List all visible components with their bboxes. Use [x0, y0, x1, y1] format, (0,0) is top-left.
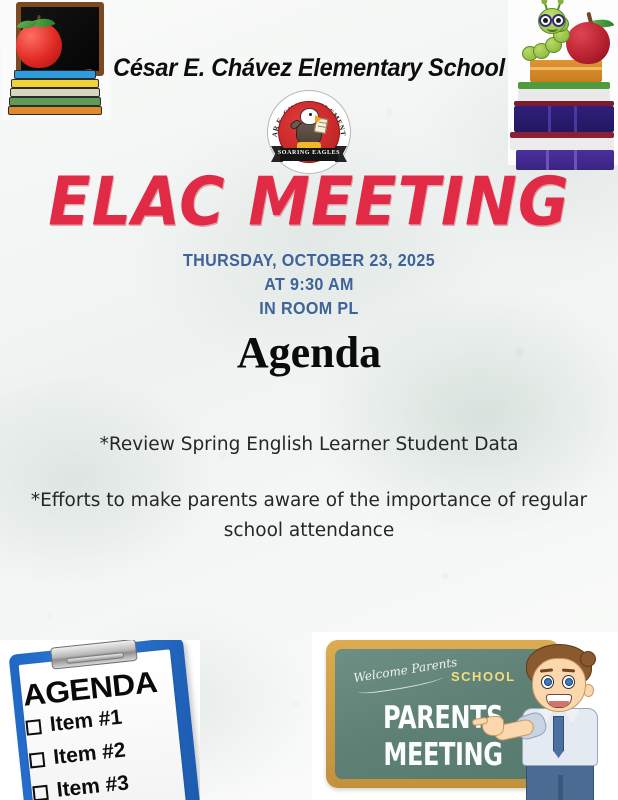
chalkboard-welcome-text: Welcome Parents — [353, 655, 459, 685]
agenda-list: *Review Spring English Learner Student D… — [28, 430, 590, 546]
meeting-location: IN ROOM PL — [25, 296, 594, 320]
checkbox-icon — [32, 784, 48, 800]
list-item-label: Item #2 — [52, 739, 126, 770]
necktie-icon — [553, 716, 564, 758]
meeting-date: THURSDAY, OCTOBER 23, 2025 — [25, 248, 594, 272]
meeting-details: THURSDAY, OCTOBER 23, 2025 AT 9:30 AM IN… — [25, 248, 594, 320]
logo-banner: SOARING EAGLES — [271, 146, 347, 163]
flyer-title: ELAC MEETING — [0, 163, 618, 241]
list-item: Item #2 — [28, 739, 126, 773]
agenda-item: *Review Spring English Learner Student D… — [28, 430, 590, 460]
meeting-time: AT 9:30 AM — [25, 272, 594, 296]
logo-banner-label: SOARING EAGLES — [271, 150, 347, 156]
checkbox-icon — [25, 719, 41, 735]
list-item-label: Item #3 — [56, 771, 130, 800]
agenda-clipboard-image: AGENDA Item #1 Item #2 Item #3 — [0, 640, 200, 800]
school-name: César E. Chávez Elementary School — [19, 54, 600, 83]
chalkboard-school-text: SCHOOL — [451, 669, 516, 684]
agenda-heading: Agenda — [0, 327, 618, 378]
clipboard-item-list: Item #1 Item #2 Item #3 — [25, 706, 131, 800]
checkbox-icon — [29, 751, 45, 767]
list-item: Item #3 — [32, 771, 130, 800]
boy-pointing-icon — [508, 644, 612, 800]
agenda-item: *Efforts to make parents aware of the im… — [28, 486, 590, 546]
elac-meeting-flyer: César E. Chávez Elementary School CESAR … — [0, 0, 618, 800]
parents-meeting-image: Welcome Parents SCHOOL PARENTS MEETING — [312, 632, 618, 800]
